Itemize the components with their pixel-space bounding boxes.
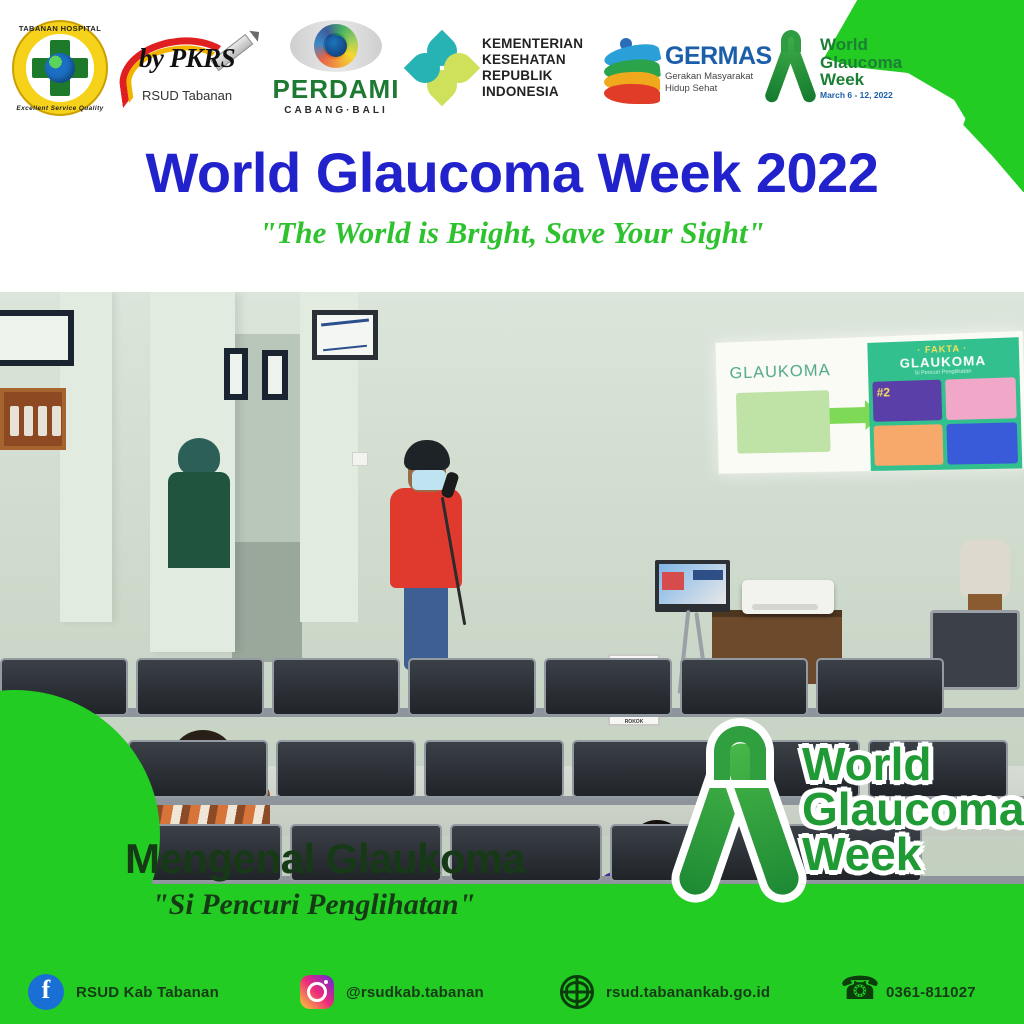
germas-text: GERMAS Gerakan Masyarakat Hidup Sehat bbox=[665, 42, 772, 95]
facebook-icon[interactable] bbox=[28, 974, 64, 1010]
slide-heading: GLAUKOMA bbox=[729, 360, 831, 383]
wall-display-board bbox=[0, 388, 66, 450]
kemenkes-text: KEMENTERIAN KESEHATAN REPUBLIK INDONESIA bbox=[482, 36, 583, 100]
infographic-card-2 bbox=[945, 377, 1017, 420]
laptop bbox=[655, 560, 730, 612]
germas-figure-icon bbox=[604, 32, 660, 104]
infographic-cards: #2 bbox=[872, 377, 1018, 466]
wgw-logo-dates: March 6 - 12, 2022 bbox=[820, 91, 902, 100]
website-label: rsud.tabanankab.go.id bbox=[606, 984, 770, 1001]
footer-website[interactable]: rsud.tabanankab.go.id bbox=[560, 975, 770, 1009]
instagram-label: @rsudkab.tabanan bbox=[346, 984, 484, 1001]
logo-strip: TABANAN HOSPITAL Excellent Service Quali… bbox=[0, 16, 1024, 120]
kemenkes-line-1: KEMENTERIAN bbox=[482, 36, 583, 52]
globe-icon[interactable] bbox=[560, 975, 594, 1009]
tabanan-logo-top-text: TABANAN HOSPITAL bbox=[12, 24, 108, 33]
poster-root: TABANAN HOSPITAL Excellent Service Quali… bbox=[0, 0, 1024, 1024]
wall-frame-2 bbox=[224, 348, 248, 400]
tabanan-hospital-logo: TABANAN HOSPITAL Excellent Service Quali… bbox=[12, 20, 108, 116]
kemenkes-line-4: INDONESIA bbox=[482, 84, 583, 100]
tabanan-logo-bottom-text: Excellent Service Quality bbox=[12, 105, 108, 112]
projection-screen: ✕ GLAUKOMA · FAKTA · GLAUKOMA Si Pencuri… bbox=[715, 330, 1024, 475]
kemenkes-line-3: REPUBLIK bbox=[482, 68, 583, 84]
world-glaucoma-week-logo: World Glaucoma Week March 6 - 12, 2022 bbox=[768, 20, 918, 116]
germas-logo: GERMAS Gerakan Masyarakat Hidup Sehat bbox=[604, 20, 764, 116]
wgw-logo-line-1: World bbox=[820, 36, 902, 53]
water-dispenser bbox=[960, 540, 1010, 596]
iris-shape bbox=[314, 24, 358, 68]
infographic-stat-badge: #2 bbox=[876, 384, 945, 400]
world-glaucoma-week-sticker: World Glaucoma Week bbox=[678, 726, 1018, 902]
green-ribbon-icon bbox=[768, 30, 814, 106]
wgw-logo-text: World Glaucoma Week March 6 - 12, 2022 bbox=[820, 36, 902, 100]
contact-footer: RSUD Kab Tabanan @rsudkab.tabanan rsud.t… bbox=[0, 960, 1024, 1024]
pkrs-sub: RSUD Tabanan bbox=[142, 88, 232, 103]
wall-frame-3 bbox=[262, 350, 288, 400]
caption-subtitle: "Si Pencuri Penglihatan" bbox=[152, 888, 475, 922]
phone-label: 0361-811027 bbox=[886, 984, 976, 1001]
infographic-card-3 bbox=[874, 424, 944, 466]
instagram-icon[interactable] bbox=[300, 975, 334, 1009]
person-speaker-red-shirt bbox=[386, 440, 464, 670]
globe-icon bbox=[45, 53, 75, 83]
kemenkes-line-2: KESEHATAN bbox=[482, 52, 583, 68]
page-subtitle: "The World is Bright, Save Your Sight" bbox=[0, 215, 1024, 251]
kemenkes-logo: KEMENTERIAN KESEHATAN REPUBLIK INDONESIA bbox=[410, 20, 600, 116]
infographic-card-1: #2 bbox=[872, 380, 942, 422]
person-standing-green-uniform bbox=[168, 438, 230, 568]
page-title: World Glaucoma Week 2022 bbox=[0, 140, 1024, 205]
perdami-wordmark: PERDAMI bbox=[273, 74, 400, 105]
wall-frame-1 bbox=[0, 310, 74, 366]
eye-icon bbox=[290, 20, 382, 72]
perdami-sub: CABANG·BALI bbox=[284, 105, 388, 116]
wgw-logo-line-2: Glaucoma bbox=[820, 54, 902, 71]
slide-left-textbox bbox=[736, 390, 831, 453]
pkrs-logo: by PKRS RSUD Tabanan bbox=[112, 20, 262, 116]
perdami-logo: PERDAMI CABANG·BALI bbox=[266, 20, 406, 116]
slide-arrow-icon bbox=[829, 407, 867, 424]
sticker-text: World Glaucoma Week bbox=[802, 742, 1024, 877]
kemenkes-petal-mark-icon bbox=[410, 36, 474, 100]
footer-instagram[interactable]: @rsudkab.tabanan bbox=[300, 975, 484, 1009]
footer-facebook[interactable]: RSUD Kab Tabanan bbox=[28, 974, 219, 1010]
footer-phone[interactable]: 0361-811027 bbox=[840, 975, 976, 1009]
doorway-lower bbox=[232, 542, 302, 662]
germas-sub-1: Gerakan Masyarakat bbox=[665, 71, 772, 83]
projector bbox=[742, 580, 834, 614]
green-ribbon-sticker-icon bbox=[684, 730, 800, 898]
wall-certificate bbox=[312, 310, 378, 360]
facebook-label: RSUD Kab Tabanan bbox=[76, 984, 219, 1001]
germas-wordmark: GERMAS bbox=[665, 42, 772, 71]
sticker-line-2: Glaucoma bbox=[802, 787, 1024, 832]
phone-icon[interactable] bbox=[840, 975, 874, 1009]
sticker-line-1: World bbox=[802, 742, 1024, 787]
wgw-logo-line-3: Week bbox=[820, 71, 902, 88]
slide-infographic-panel: · FAKTA · GLAUKOMA Si Pencuri Penglihata… bbox=[867, 337, 1022, 471]
pkrs-wordmark: by PKRS bbox=[139, 43, 235, 74]
light-switch bbox=[352, 452, 368, 466]
sticker-line-3: Week bbox=[802, 832, 1024, 877]
germas-sub-2: Hidup Sehat bbox=[665, 83, 772, 95]
infographic-card-4 bbox=[946, 422, 1018, 464]
caption-title: Mengenal Glaukoma bbox=[125, 835, 525, 883]
